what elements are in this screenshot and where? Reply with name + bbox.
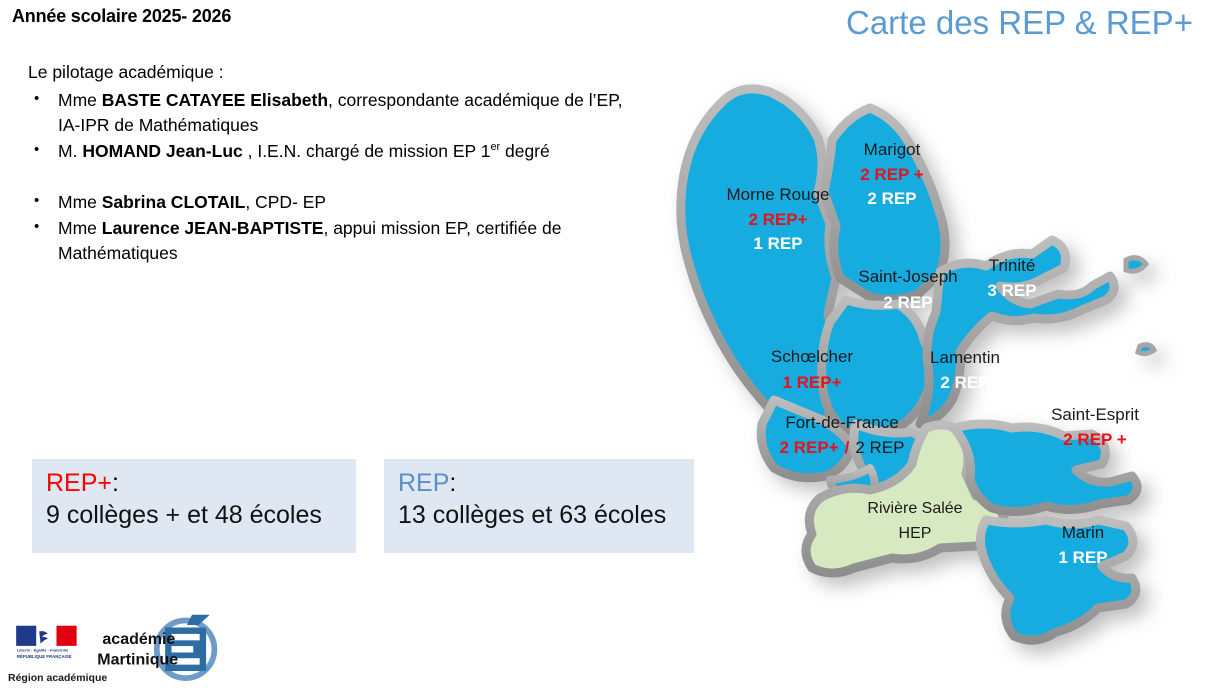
pilotage-block: Le pilotage académique : • Mme BASTE CAT…	[28, 60, 648, 267]
legend-rep-head: REP:	[398, 467, 680, 499]
commune-label-saint-esprit: Saint-Esprit	[1051, 405, 1139, 424]
legend-repplus-colon: :	[112, 469, 119, 497]
commune-label-marigot: Marigot	[864, 140, 921, 159]
item-prefix: M.	[58, 141, 82, 161]
item-name: BASTE CATAYEE Elisabeth	[102, 90, 328, 110]
commune-rep-lamentin: 2 REP	[940, 373, 989, 392]
commune-rep-morne-rouge: 1 REP	[753, 234, 802, 253]
map-container: Morne Rouge 2 REP+ 1 REP Marigot 2 REP +…	[640, 28, 1226, 668]
legend-rep-label: REP	[398, 469, 449, 497]
item-role: , CPD- EP	[245, 192, 326, 212]
svg-text:académie: académie	[102, 631, 175, 648]
commune-label-fort-de-france: Fort-de-France	[785, 413, 898, 432]
item-sup: er	[490, 141, 500, 153]
list-item: • Mme Laurence JEAN-BAPTISTE, appui miss…	[28, 216, 648, 266]
list-spacer	[28, 164, 648, 190]
bullet-icon: •	[34, 88, 39, 109]
commune-label-trinite: Trinité	[989, 256, 1036, 275]
commune-repplus-marigot: 2 REP +	[860, 165, 924, 184]
item-prefix: Mme	[58, 90, 102, 110]
legend-repplus-head: REP+:	[46, 467, 342, 499]
legend-box-repplus: REP+: 9 collèges + et 48 écoles	[32, 459, 356, 553]
bullet-icon: •	[34, 190, 39, 211]
commune-shape-marin[interactable]	[980, 520, 1135, 640]
islet-shape-east-small	[1138, 345, 1154, 354]
commune-label-schoelcher: Schœlcher	[771, 347, 854, 366]
commune-rep-saint-joseph: 2 REP	[883, 293, 932, 312]
commune-label-morne-rouge: Morne Rouge	[726, 185, 829, 204]
marianne-logo-icon: Liberté · Égalité · Fraternité RÉPUBLIQU…	[14, 624, 86, 662]
svg-text:Liberté · Égalité · Fraternité: Liberté · Égalité · Fraternité	[17, 648, 69, 653]
pilotage-list: • Mme BASTE CATAYEE Elisabeth, correspon…	[28, 88, 648, 266]
legend-rep-colon: :	[449, 469, 456, 497]
item-name: Laurence JEAN-BAPTISTE	[102, 218, 324, 238]
region-academique-label: Région académique	[8, 672, 107, 684]
svg-text:Martinique: Martinique	[97, 652, 178, 669]
page-title: Année scolaire 2025- 2026	[12, 6, 231, 27]
commune-label-riviere-salee: Rivière Salée	[867, 500, 962, 517]
legend-rep-detail: 13 collèges et 63 écoles	[398, 499, 680, 531]
item-prefix: Mme	[58, 192, 102, 212]
fdf-repplus: 2 REP+	[780, 438, 839, 457]
commune-rep-trinite: 3 REP	[987, 281, 1036, 300]
commune-rep-marin: 1 REP	[1058, 548, 1107, 567]
martinique-communes-map: Morne Rouge 2 REP+ 1 REP Marigot 2 REP +…	[640, 28, 1226, 668]
item-prefix: Mme	[58, 218, 102, 238]
item-name: Sabrina CLOTAIL	[102, 192, 246, 212]
bullet-icon: •	[34, 139, 39, 160]
legend-repplus-detail: 9 collèges + et 48 écoles	[46, 499, 342, 531]
legend-repplus-label: REP+	[46, 469, 112, 497]
list-item: • M. HOMAND Jean-Luc , I.E.N. chargé de …	[28, 139, 648, 164]
list-item: • Mme Sabrina CLOTAIL, CPD- EP	[28, 190, 648, 215]
svg-text:RÉPUBLIQUE FRANÇAISE: RÉPUBLIQUE FRANÇAISE	[17, 654, 72, 659]
commune-repplus-morne-rouge: 2 REP+	[748, 210, 807, 229]
commune-repplus-saint-esprit: 2 REP +	[1063, 430, 1127, 449]
islet-shape-caravelle-tip	[1126, 258, 1146, 271]
commune-label-saint-joseph: Saint-Joseph	[858, 267, 957, 286]
pilotage-intro: Le pilotage académique :	[28, 60, 648, 85]
bullet-icon: •	[34, 216, 39, 237]
item-name: HOMAND Jean-Luc	[82, 141, 247, 161]
fdf-separator: /	[845, 438, 850, 457]
item-role-tail: degré	[500, 141, 550, 161]
commune-rep-marigot: 2 REP	[867, 189, 916, 208]
fdf-rep: 2 REP	[855, 438, 904, 457]
commune-rep-riviere-salee: HEP	[899, 525, 932, 542]
commune-repplus-schoelcher: 1 REP+	[782, 373, 841, 392]
commune-label-marin: Marin	[1062, 523, 1105, 542]
list-item: • Mme BASTE CATAYEE Elisabeth, correspon…	[28, 88, 648, 138]
item-role: , I.E.N. chargé de mission EP 1	[248, 141, 491, 161]
academie-martinique-logo-icon: académie Martinique	[96, 612, 224, 684]
commune-label-lamentin: Lamentin	[930, 348, 1000, 367]
